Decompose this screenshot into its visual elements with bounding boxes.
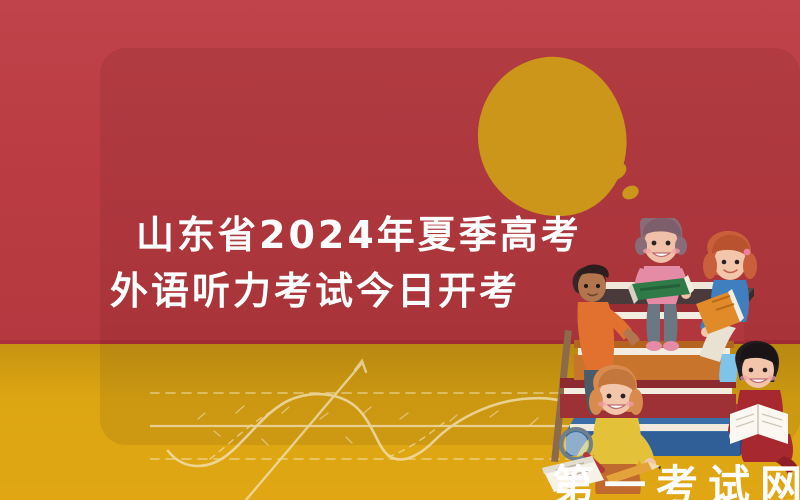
exam-news-banner: 山东省2024年夏季高考 外语听力考试今日开考 [0,0,800,500]
site-watermark: 第一考试网 [552,452,800,500]
